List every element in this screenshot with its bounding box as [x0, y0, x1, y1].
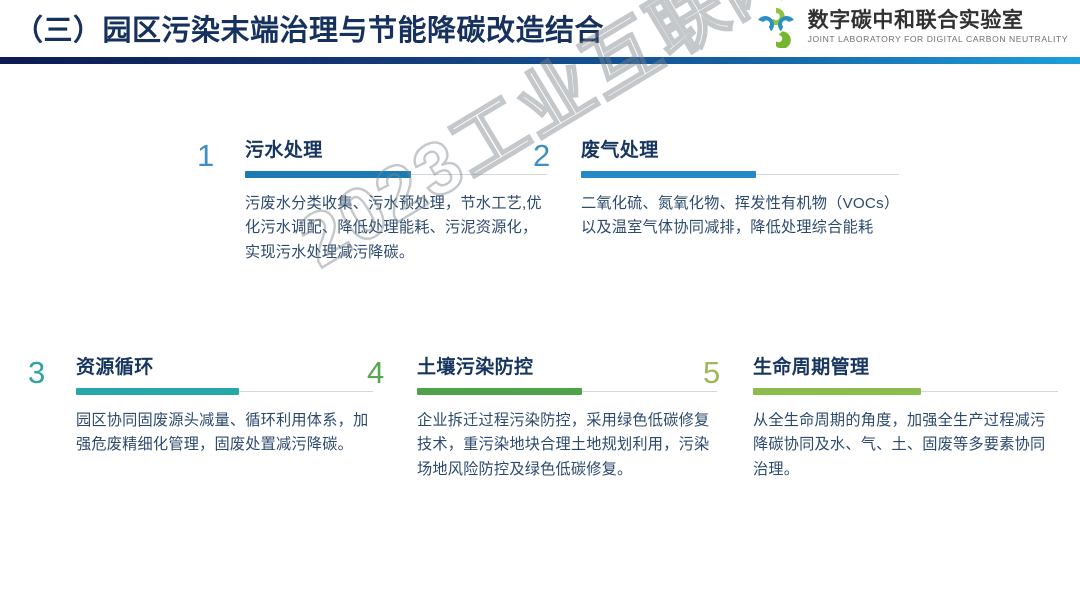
- card-description: 污废水分类收集、污水预处理，节水工艺,优化污水调配、降低处理能耗、污泥资源化，实…: [245, 192, 547, 266]
- card-heading: 资源循环: [76, 357, 373, 379]
- card-content: 污水处理 污废水分类收集、污水预处理，节水工艺,优化污水调配、降低处理能耗、污泥…: [245, 140, 547, 266]
- card-description: 从全生命周期的角度，加强全生产过程减污降碳协同及水、气、土、固废等多要素协同治理…: [753, 409, 1058, 483]
- card-rule-fill: [245, 171, 411, 178]
- card-rule-fill: [417, 388, 582, 395]
- card-accent-rule: [581, 171, 899, 178]
- card-rule-fill: [753, 388, 921, 395]
- slide-canvas: （三）园区污染末端治理与节能降碳改造结合 数字碳中和联合实验室 JOINT LA…: [0, 0, 1080, 607]
- card-accent-rule: [417, 388, 717, 395]
- slide-header: （三）园区污染末端治理与节能降碳改造结合 数字碳中和联合实验室 JOINT LA…: [0, 0, 1080, 57]
- card-heading: 生命周期管理: [753, 357, 1058, 379]
- header-divider: [0, 57, 1080, 64]
- card-heading: 土壤污染防控: [417, 357, 717, 379]
- card-description: 企业拆迁过程污染防控，采用绿色低碳修复技术，重污染地块合理土地规划利用，污染场地…: [417, 409, 717, 483]
- card-content: 生命周期管理 从全生命周期的角度，加强全生产过程减污降碳协同及水、气、土、固废等…: [753, 357, 1058, 483]
- card-number: 3: [28, 357, 45, 388]
- pinwheel-logo-icon: [753, 6, 799, 48]
- organization-logo: 数字碳中和联合实验室 JOINT LABORATORY FOR DIGITAL …: [753, 6, 1068, 48]
- card-heading: 污水处理: [245, 140, 547, 162]
- page-title: （三）园区污染末端治理与节能降碳改造结合: [14, 7, 604, 49]
- logo-name-cn: 数字碳中和联合实验室: [808, 10, 1068, 32]
- card-content: 土壤污染防控 企业拆迁过程污染防控，采用绿色低碳修复技术，重污染地块合理土地规划…: [417, 357, 717, 483]
- card-number: 5: [703, 357, 720, 388]
- logo-name-en: JOINT LABORATORY FOR DIGITAL CARBON NEUT…: [808, 34, 1068, 44]
- card-number: 2: [533, 140, 550, 171]
- card-rule-fill: [76, 388, 239, 395]
- card-number: 1: [197, 140, 214, 171]
- card-description: 二氧化硫、氮氧化物、挥发性有机物（VOCs）以及温室气体协同减排，降低处理综合能…: [581, 192, 899, 241]
- card-description: 园区协同固废源头减量、循环利用体系，加强危废精细化管理，固废处置减污降碳。: [76, 409, 373, 458]
- card-accent-rule: [76, 388, 373, 395]
- card-content: 资源循环 园区协同固废源头减量、循环利用体系，加强危废精细化管理，固废处置减污降…: [76, 357, 373, 458]
- card-heading: 废气处理: [581, 140, 899, 162]
- card-accent-rule: [245, 171, 547, 178]
- logo-text: 数字碳中和联合实验室 JOINT LABORATORY FOR DIGITAL …: [808, 10, 1068, 44]
- card-content: 废气处理 二氧化硫、氮氧化物、挥发性有机物（VOCs）以及温室气体协同减排，降低…: [581, 140, 899, 241]
- card-number: 4: [367, 357, 384, 388]
- card-accent-rule: [753, 388, 1058, 395]
- card-rule-fill: [581, 171, 756, 178]
